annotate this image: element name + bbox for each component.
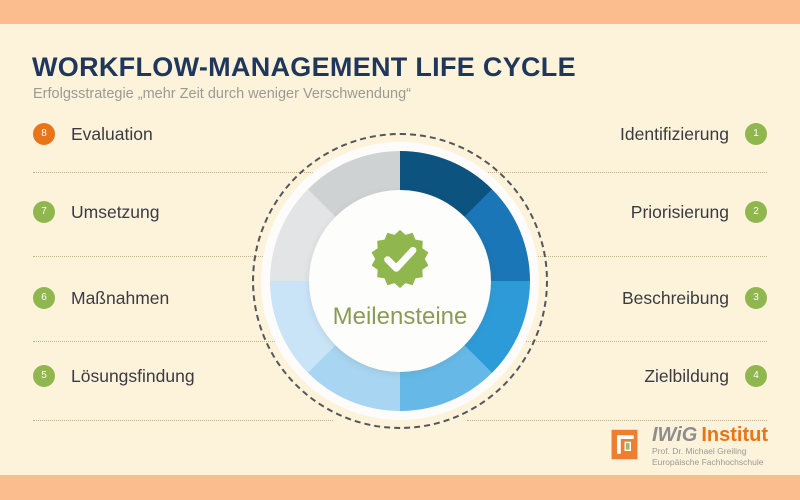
iwig-square-icon [606, 426, 643, 468]
iwig-logo[interactable]: IWiGInstitut Prof. Dr. Michael Greiling … [606, 424, 768, 468]
check-seal-icon [369, 228, 431, 295]
stage-label-priorisierung: Priorisierung [631, 202, 729, 223]
logo-name-institut: Institut [701, 424, 768, 446]
stage-badge-5: 5 [33, 365, 55, 387]
page-title: WORKFLOW-MANAGEMENT LIFE CYCLE [32, 52, 576, 83]
infographic-poster: WORKFLOW-MANAGEMENT LIFE CYCLE Erfolgsst… [0, 0, 800, 500]
stage-item-priorisierung[interactable]: Priorisierung 2 [631, 199, 767, 225]
stage-item-massnahmen[interactable]: 6 Maßnahmen [33, 285, 169, 311]
stage-badge-6: 6 [33, 287, 55, 309]
stage-item-umsetzung[interactable]: 7 Umsetzung [33, 199, 160, 225]
logo-subline-2: Europäische Fachhochschule [652, 457, 768, 468]
stage-item-beschreibung[interactable]: Beschreibung 3 [622, 285, 767, 311]
stage-label-beschreibung: Beschreibung [622, 288, 729, 309]
stage-badge-2: 2 [745, 201, 767, 223]
life-cycle-donut-chart: Meilensteine [252, 133, 548, 429]
stage-badge-3: 3 [745, 287, 767, 309]
page-subtitle: Erfolgsstrategie „mehr Zeit durch wenige… [33, 86, 411, 102]
stage-item-zielbildung[interactable]: Zielbildung 4 [644, 363, 767, 389]
top-accent-band [0, 0, 800, 24]
stage-label-evaluation: Evaluation [71, 124, 153, 145]
stage-label-loesungsfindung: Lösungsfindung [71, 366, 195, 387]
stage-item-loesungsfindung[interactable]: 5 Lösungsfindung [33, 363, 195, 389]
stage-badge-7: 7 [33, 201, 55, 223]
donut-center-label: Meilensteine [333, 303, 468, 331]
stage-label-umsetzung: Umsetzung [71, 202, 160, 223]
stage-label-identifizierung: Identifizierung [620, 124, 729, 145]
stage-badge-1: 1 [745, 123, 767, 145]
logo-subline-1: Prof. Dr. Michael Greiling [652, 446, 768, 457]
bottom-accent-band [0, 475, 800, 500]
donut-center-content: Meilensteine [309, 190, 491, 372]
logo-wordmark: IWiGInstitut [652, 424, 768, 446]
stage-item-identifizierung[interactable]: Identifizierung 1 [620, 121, 767, 147]
stage-item-evaluation[interactable]: 8 Evaluation [33, 121, 153, 147]
stage-badge-8: 8 [33, 123, 55, 145]
stage-badge-4: 4 [745, 365, 767, 387]
logo-name-iwig: IWiG [652, 424, 697, 446]
stage-label-zielbildung: Zielbildung [644, 366, 729, 387]
stage-label-massnahmen: Maßnahmen [71, 288, 169, 309]
